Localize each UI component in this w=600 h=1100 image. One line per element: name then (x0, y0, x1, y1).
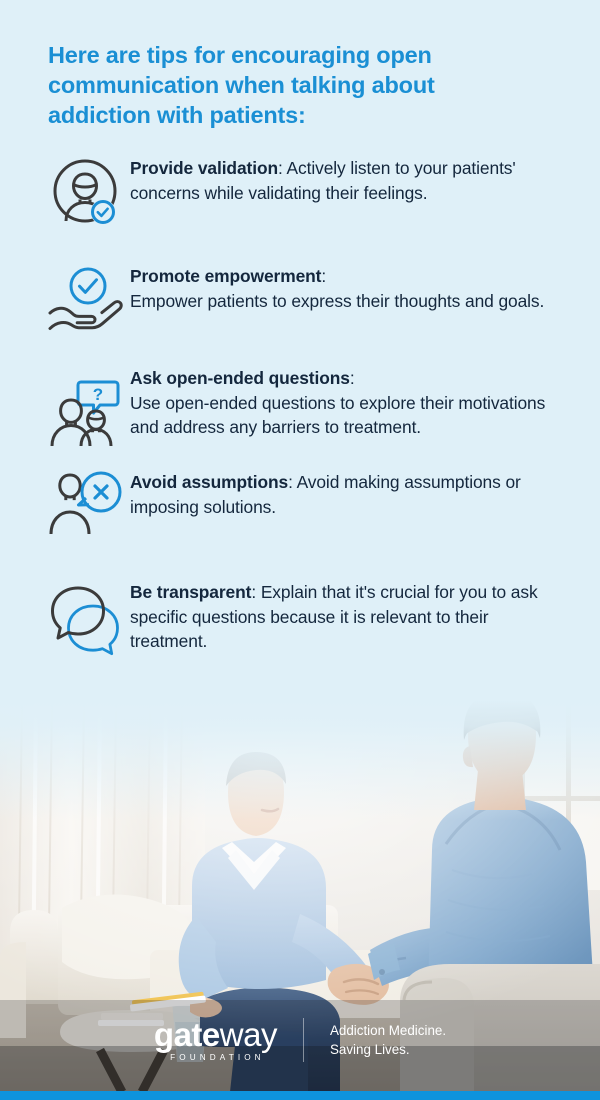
list-item-title: Avoid assumptions (130, 472, 288, 492)
list-item-separator: : (278, 158, 287, 178)
tips-list: Provide validation: Actively listen to y… (0, 152, 600, 662)
brand-footer: gateway FOUNDATION Addiction Medicine. S… (0, 1018, 600, 1062)
bottom-accent-bar (0, 1091, 600, 1100)
list-item-body: Empower patients to express their though… (130, 291, 544, 311)
infographic-root: Here are tips for encouraging open commu… (0, 0, 600, 1100)
brand-tagline-line-2: Saving Lives. (330, 1040, 446, 1059)
list-item: Be transparent: Explain that it's crucia… (0, 576, 600, 662)
logo-word-gate: gate (154, 1016, 220, 1053)
gateway-logo: gateway FOUNDATION (154, 1018, 303, 1062)
svg-text:?: ? (93, 385, 103, 404)
list-item-body: Use open-ended questions to explore thei… (130, 393, 545, 438)
logo-subtitle: FOUNDATION (154, 1053, 277, 1062)
two-people-question-bubble-icon: ? (44, 362, 130, 448)
list-item-title: Provide validation (130, 158, 278, 178)
list-item-text: Be transparent: Explain that it's crucia… (130, 576, 560, 654)
list-item: Avoid assumptions: Avoid making assumpti… (0, 466, 600, 552)
list-item-separator: : (251, 582, 260, 602)
brand-tagline-line-1: Addiction Medicine. (330, 1021, 446, 1040)
two-speech-bubbles-icon (44, 576, 130, 662)
hand-holding-check-icon (44, 260, 130, 346)
logo-word-way: way (220, 1016, 277, 1053)
list-item-text: Provide validation: Actively listen to y… (130, 152, 560, 205)
logo-wordmark: gateway (154, 1018, 277, 1052)
person-check-badge-icon (44, 152, 130, 238)
list-item: Promote empowerment:Empower patients to … (0, 260, 600, 346)
list-item-text: Avoid assumptions: Avoid making assumpti… (130, 466, 560, 519)
list-item-separator: : (288, 472, 297, 492)
list-item-separator: : (321, 266, 326, 286)
list-item-title: Be transparent (130, 582, 251, 602)
list-item-separator: : (350, 368, 355, 388)
list-item-title: Promote empowerment (130, 266, 321, 286)
page-title: Here are tips for encouraging open commu… (48, 40, 518, 130)
list-item-text: Promote empowerment:Empower patients to … (130, 260, 560, 313)
brand-tagline: Addiction Medicine. Saving Lives. (304, 1021, 446, 1059)
list-item-title: Ask open-ended questions (130, 368, 350, 388)
list-item: ? Ask open-ended questions:Use open-ende… (0, 362, 600, 448)
list-item: Provide validation: Actively listen to y… (0, 152, 600, 238)
list-item-text: Ask open-ended questions:Use open-ended … (130, 362, 560, 440)
person-x-bubble-icon (44, 466, 130, 552)
